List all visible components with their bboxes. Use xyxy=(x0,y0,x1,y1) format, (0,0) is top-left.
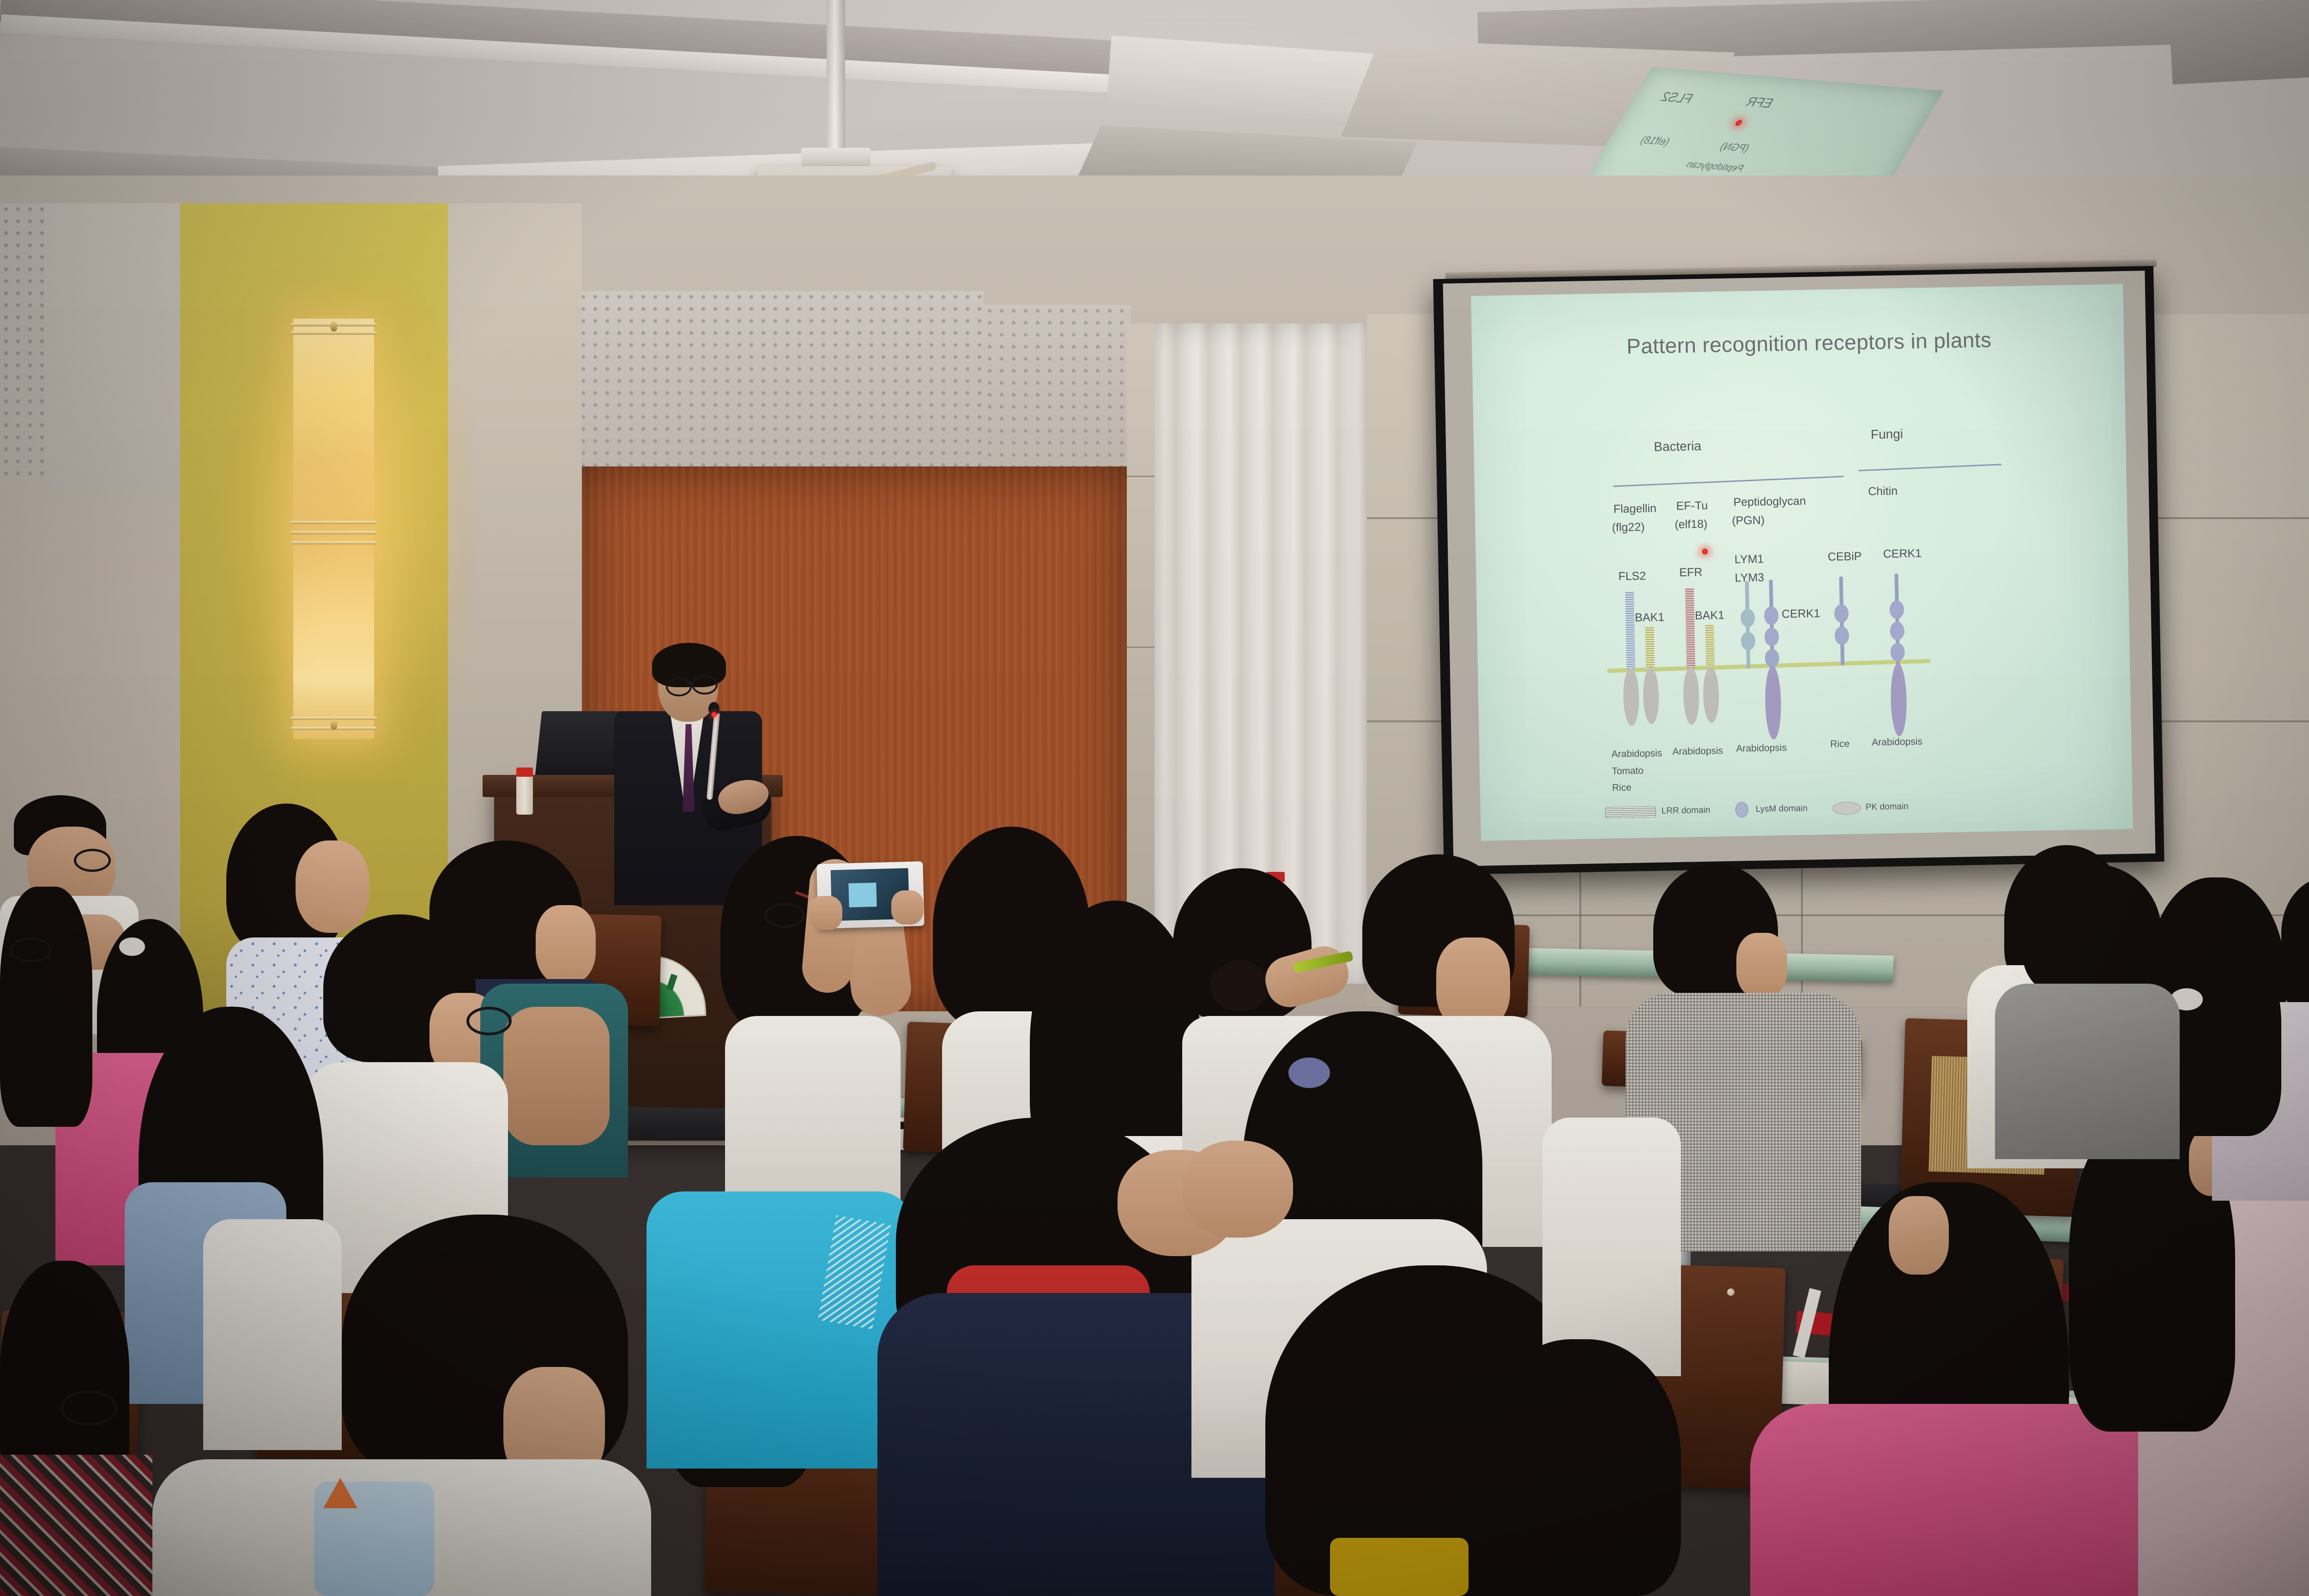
audience-hair xyxy=(1478,1339,1681,1596)
audience-fingers xyxy=(891,890,924,925)
projector-pole xyxy=(827,0,845,152)
sconce-knob xyxy=(331,321,337,332)
receptor-bak1-b-lrr xyxy=(1705,624,1715,668)
slide-species-1: Arabidopsis xyxy=(1611,748,1662,760)
receptor-lym-lysm xyxy=(1741,609,1755,628)
audience-glasses xyxy=(764,903,805,928)
slide-receptor-lym1: LYM1 xyxy=(1735,552,1764,567)
reflection-text-efr: EFR xyxy=(1743,94,1776,111)
sconce-band xyxy=(291,332,376,335)
audience-neck xyxy=(536,905,596,984)
audience-fingers xyxy=(809,896,842,930)
receptor-cerk1-lysm xyxy=(1890,643,1905,662)
slide-ligand-eftu: EF-Tu xyxy=(1676,499,1708,514)
slide-ligand-eftu-sub: (elf18) xyxy=(1674,517,1707,532)
sconce-band xyxy=(291,531,376,534)
audience-neck xyxy=(1736,933,1787,997)
slide-receptor-efr: EFR xyxy=(1679,565,1703,580)
receptor-efr-lrr xyxy=(1685,587,1695,668)
slide-species-4: Rice xyxy=(1830,738,1850,750)
audience-arm xyxy=(503,1007,610,1145)
receptor-cerk1-lysm xyxy=(1890,622,1904,641)
receptor-cerk1-partner-lysm xyxy=(1764,606,1779,625)
receptor-cerk1-lysm xyxy=(1890,600,1904,619)
audience-hair xyxy=(2023,864,2161,997)
receptor-cerk1-partner-lysm xyxy=(1765,628,1779,647)
slide-species-5: Arabidopsis xyxy=(1872,736,1922,748)
slide-column-heading-bacteria: Bacteria xyxy=(1654,439,1701,454)
receptor-fls2-pk xyxy=(1623,668,1639,726)
slide-partner-bak1-b: BAK1 xyxy=(1695,608,1724,623)
receptor-bak1-a-pk xyxy=(1643,668,1659,725)
receptor-efr-pk xyxy=(1683,667,1699,725)
podium-water-bottle xyxy=(516,775,533,815)
chair-stud xyxy=(1727,1288,1735,1296)
audience-torso xyxy=(1750,1404,2157,1596)
slide-title: Pattern recognition receptors in plants xyxy=(1559,326,2059,360)
sconce-band xyxy=(291,541,376,544)
slide-partner-cerk1: CERK1 xyxy=(1782,606,1820,621)
audience-collar xyxy=(1330,1538,1469,1596)
laser-pointer-dot xyxy=(1701,549,1709,555)
receptor-bak1-b-pk xyxy=(1703,666,1719,723)
receptor-bak1-a-lrr xyxy=(1645,626,1655,669)
audience-glasses xyxy=(60,1390,117,1426)
reflection-laser-dot xyxy=(1733,120,1744,126)
receptor-fls2-lrr xyxy=(1625,591,1635,670)
slide-ligand-pgn-sub: (PGN) xyxy=(1732,513,1765,528)
audience-hands xyxy=(1182,1141,1293,1238)
microphone-led-indicator xyxy=(712,712,717,717)
slide-species-2: Arabidopsis xyxy=(1672,745,1723,757)
slide-ligand-flagellin-sub: (flg22) xyxy=(1612,520,1644,535)
slide-species-3: Arabidopsis xyxy=(1736,742,1787,755)
speaker-glasses-bridge xyxy=(687,683,694,684)
slide-receptor-fls2: FLS2 xyxy=(1618,569,1646,584)
wall-tile-seam xyxy=(1801,868,1803,1007)
legend-lrr-icon xyxy=(1605,806,1656,818)
slide-partner-bak1-a: BAK1 xyxy=(1635,610,1664,625)
reflection-text-fls2: FLS2 xyxy=(1658,89,1696,106)
reflection-text-elf18: (elf18) xyxy=(1638,134,1673,148)
audience-hair xyxy=(0,887,92,1127)
wall-panel xyxy=(44,203,187,490)
lecture-hall-photo: FLS2 EFR (elf18) (PGN) Peptidoglycan xyxy=(0,0,2309,1596)
receptor-cerk1-pk xyxy=(1890,663,1907,737)
audience-torso xyxy=(1542,1118,1681,1376)
hair-tie xyxy=(1288,1058,1330,1088)
legend-pk-icon xyxy=(1832,802,1862,815)
slide-rule-bacteria xyxy=(1613,476,1844,487)
receptor-cebip-lysm xyxy=(1835,626,1850,645)
reflection-text-pgn: (PGN) xyxy=(1717,140,1752,155)
sconce-knob xyxy=(331,719,337,730)
audience-glasses xyxy=(9,937,52,962)
audience-torso xyxy=(725,1016,901,1210)
slide-ligand-peptidoglycan: Peptidoglycan xyxy=(1733,494,1806,509)
speaker-glasses-lens xyxy=(692,675,718,695)
receptor-cebip-lysm xyxy=(1834,604,1849,623)
receptor-lym-lysm xyxy=(1741,632,1756,651)
audience-glasses xyxy=(74,849,111,872)
wall-tile-seam xyxy=(1579,868,1581,1007)
slide-receptor-cerk1: CERK1 xyxy=(1883,546,1922,561)
wall-sconce-lamp xyxy=(293,319,374,739)
slide-receptor-cebip: CEBiP xyxy=(1828,550,1862,564)
speaker-glasses-lens xyxy=(666,677,692,696)
slide-ligand-flagellin: Flagellin xyxy=(1614,502,1657,516)
slide-column-heading-fungi: Fungi xyxy=(1871,427,1904,442)
audience-torso xyxy=(1995,984,2180,1159)
audience-hair-bun xyxy=(1210,961,1270,1011)
legend-lrr-label: LRR domain xyxy=(1662,805,1711,816)
podium-bottle-cap xyxy=(516,768,533,777)
slide-ligand-chitin: Chitin xyxy=(1868,484,1898,499)
acoustic-perforated-panel xyxy=(0,203,46,480)
slide-species-1b: Tomato xyxy=(1612,765,1644,777)
acoustic-perforated-panel xyxy=(984,305,1131,466)
audience-ear xyxy=(1889,1196,1949,1275)
hair-tie xyxy=(119,937,145,956)
audience-plaid-top xyxy=(0,1455,152,1596)
audience-torso xyxy=(203,1219,342,1450)
legend-lysm-label: LysM domain xyxy=(1756,804,1808,815)
ceiling-panel xyxy=(2169,0,2309,85)
slide-species-1c: Rice xyxy=(1612,782,1632,794)
slide-receptor-lym3: LYM3 xyxy=(1735,571,1764,586)
audience-face xyxy=(296,840,369,933)
acoustic-perforated-panel xyxy=(577,291,984,466)
smartphone-captured-slide xyxy=(848,883,876,907)
receptor-cerk1-partner-pk xyxy=(1765,665,1782,740)
slide-rule-fungi xyxy=(1858,464,2001,471)
projection-screen: Pattern recognition receptors in plants … xyxy=(1471,284,2133,841)
sconce-band xyxy=(291,521,376,524)
legend-lysm-icon xyxy=(1735,802,1748,818)
audience-glasses xyxy=(466,1007,512,1035)
legend-pk-label: PK domain xyxy=(1866,802,1909,813)
reflection-text-peptidoglycan: Peptidoglycan xyxy=(1684,159,1746,175)
